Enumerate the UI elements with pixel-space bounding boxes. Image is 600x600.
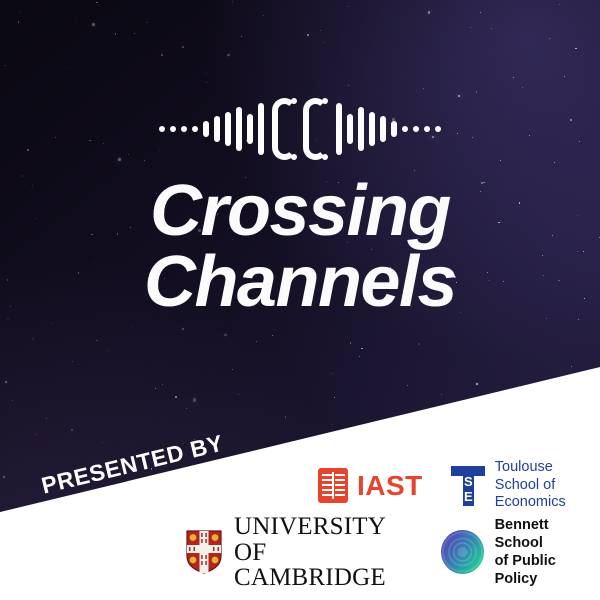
cc-monogram-letter: [272, 98, 297, 160]
waveform-bar: [347, 114, 353, 144]
tse-monogram-letters: S E: [463, 474, 474, 506]
waveform-dot: [181, 126, 187, 132]
page-title: Crossing Channels: [0, 176, 600, 319]
podcast-cover-art: Crossing Channels PRESENTED BY: [0, 0, 600, 600]
waveform-bar: [336, 103, 342, 155]
cc-monogram: [272, 98, 328, 160]
waveform-dot: [170, 126, 176, 132]
partner-logo-bennett-school-of-public-policy: Bennett School of Public Policy: [441, 516, 600, 589]
iast-wordmark: IAST: [357, 472, 423, 500]
waveform-bar: [225, 112, 231, 146]
waveform-bar: [236, 107, 242, 151]
bennett-concentric-circle-icon: [441, 530, 484, 574]
cambridge-wordmark: UNIVERSITY OF CAMBRIDGE: [234, 514, 419, 591]
partner-logo-toulouse-school-of-economics: S E Toulouse School of Economics: [451, 459, 566, 512]
partner-logo-university-of-cambridge: UNIVERSITY OF CAMBRIDGE: [186, 514, 419, 591]
partner-logo-iast: IAST: [318, 468, 423, 503]
title-line-2: Channels: [0, 247, 600, 318]
crossing-channels-waveform-logo: [0, 98, 600, 160]
cambridge-crest-icon: [186, 530, 222, 574]
waveform-bar: [369, 112, 375, 146]
waveform-bar: [358, 107, 364, 151]
partner-logo-row-2: UNIVERSITY OF CAMBRIDGE Bennett School o…: [186, 514, 600, 591]
open-book-icon: [318, 468, 348, 503]
partner-logo-row-1: IAST S E Toulouse School of Economics: [318, 459, 566, 512]
tse-monogram-icon: S E: [451, 466, 485, 506]
waveform-bar: [258, 103, 264, 155]
book-spine: [332, 472, 334, 499]
waveform-bar: [247, 114, 253, 144]
waveform-dot: [159, 126, 165, 132]
waveform-bar: [203, 121, 209, 137]
partner-logos: IAST S E Toulouse School of Economics: [0, 452, 600, 600]
waveform-bar: [380, 116, 386, 142]
title-line-1: Crossing: [0, 176, 600, 247]
waveform-dot: [435, 126, 441, 132]
tse-wordmark: Toulouse School of Economics: [495, 459, 566, 512]
cc-monogram-letter: [303, 98, 328, 160]
waveform-dot: [192, 126, 198, 132]
waveform-bar: [391, 121, 397, 137]
waveform-dot: [424, 126, 430, 132]
waveform-dot: [413, 126, 419, 132]
bennett-wordmark: Bennett School of Public Policy: [495, 516, 600, 589]
waveform-bar: [214, 116, 220, 142]
waveform-dot: [402, 126, 408, 132]
